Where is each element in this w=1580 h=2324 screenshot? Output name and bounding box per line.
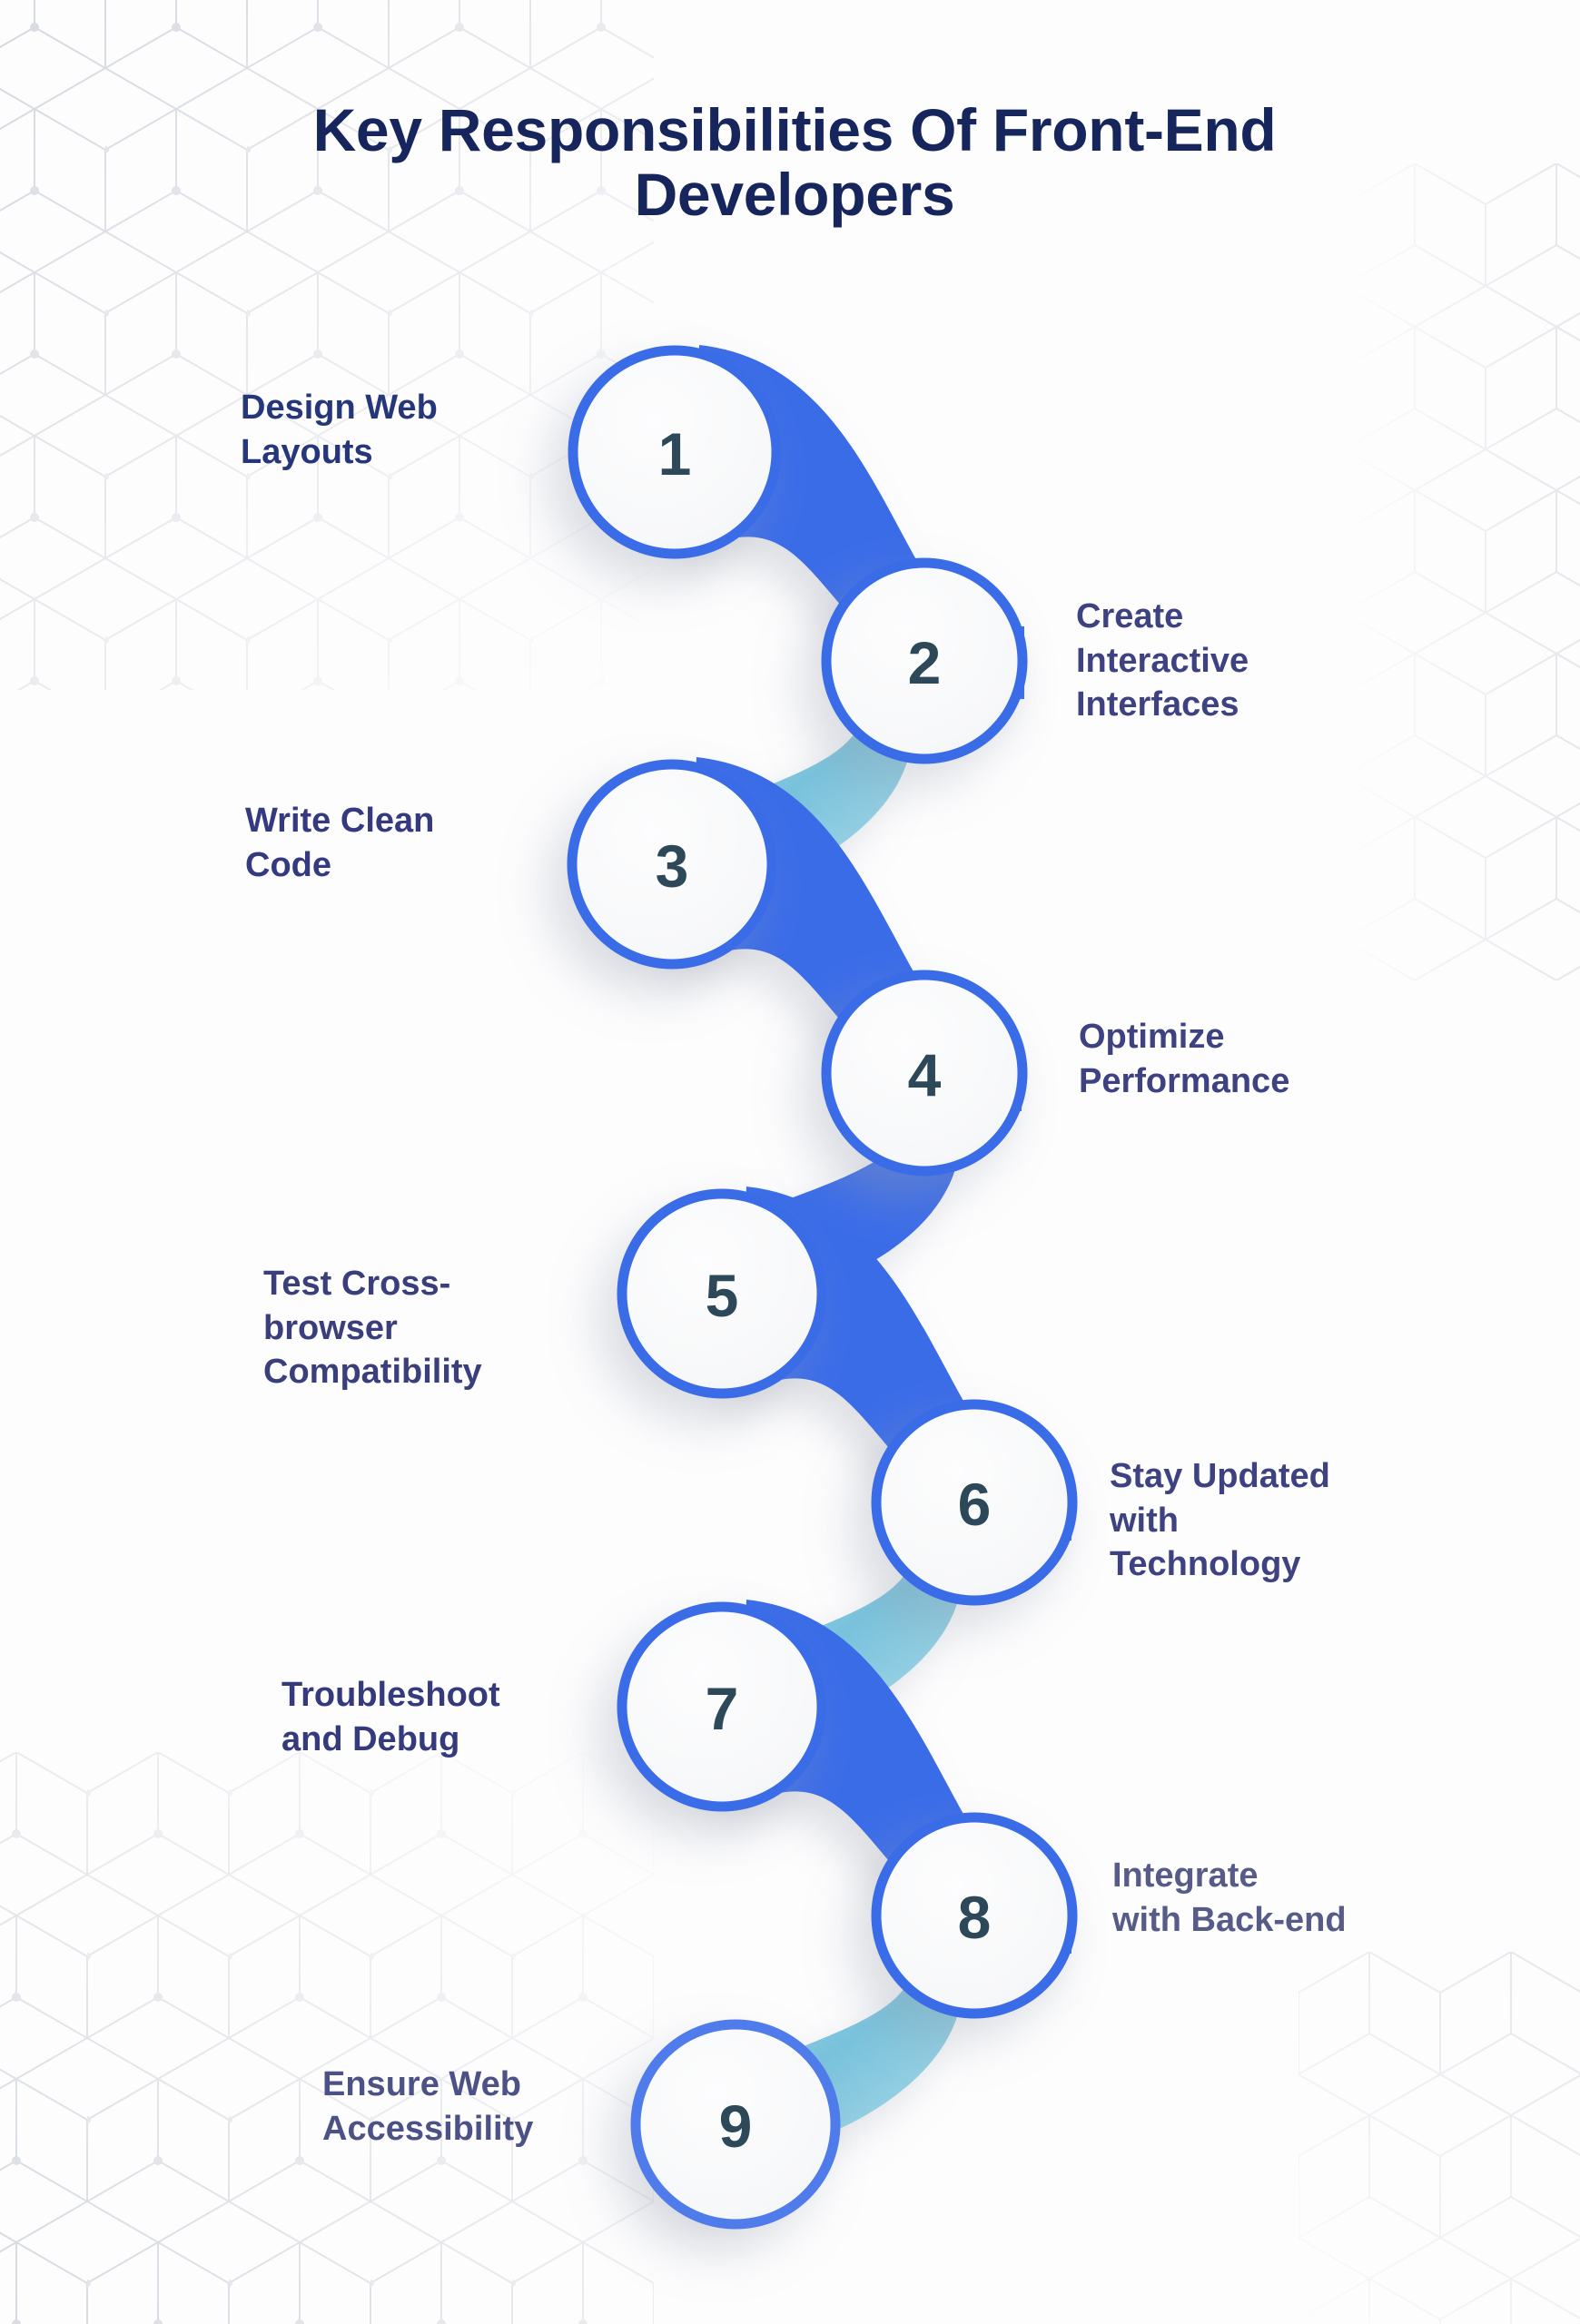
step-node-4[interactable]: 4 bbox=[826, 975, 1022, 1171]
step-circle-group: 1 2 3 4 5 6 bbox=[572, 350, 1072, 2224]
step-node-8[interactable]: 8 bbox=[876, 1817, 1072, 2014]
step-label-4: Optimize Performance bbox=[1079, 1015, 1387, 1103]
infographic-page: Key Responsibilities Of Front-End Develo… bbox=[0, 0, 1580, 2324]
step-label-3: Write Clean Code bbox=[245, 799, 536, 887]
step-label-2: Create Interactive Interfaces bbox=[1076, 595, 1376, 727]
step-number-4: 4 bbox=[908, 1041, 942, 1108]
step-number-7: 7 bbox=[706, 1675, 739, 1742]
step-number-3: 3 bbox=[656, 832, 689, 900]
step-label-1: Design Web Layouts bbox=[241, 386, 531, 474]
step-node-9[interactable]: 9 bbox=[636, 2024, 835, 2224]
step-number-6: 6 bbox=[958, 1471, 992, 1538]
step-node-7[interactable]: 7 bbox=[622, 1607, 822, 1807]
step-label-7: Troubleshoot and Debug bbox=[281, 1673, 590, 1761]
step-node-5[interactable]: 5 bbox=[622, 1194, 822, 1393]
step-node-1[interactable]: 1 bbox=[573, 350, 776, 554]
step-number-1: 1 bbox=[658, 420, 692, 487]
step-number-9: 9 bbox=[719, 2093, 753, 2160]
step-label-9: Ensure Web Accessibility bbox=[322, 2063, 631, 2151]
step-label-5: Test Cross- browser Compatibility bbox=[263, 1262, 590, 1394]
step-number-8: 8 bbox=[958, 1884, 992, 1951]
step-label-6: Stay Updated with Technology bbox=[1110, 1454, 1418, 1587]
step-node-6[interactable]: 6 bbox=[876, 1404, 1072, 1600]
process-chain: 1 2 3 4 5 6 bbox=[0, 0, 1580, 2324]
step-node-3[interactable]: 3 bbox=[572, 764, 772, 964]
step-label-8: Integrate with Back-end bbox=[1112, 1854, 1439, 1942]
step-node-2[interactable]: 2 bbox=[826, 563, 1022, 759]
step-number-2: 2 bbox=[908, 629, 942, 696]
step-number-5: 5 bbox=[706, 1262, 739, 1329]
